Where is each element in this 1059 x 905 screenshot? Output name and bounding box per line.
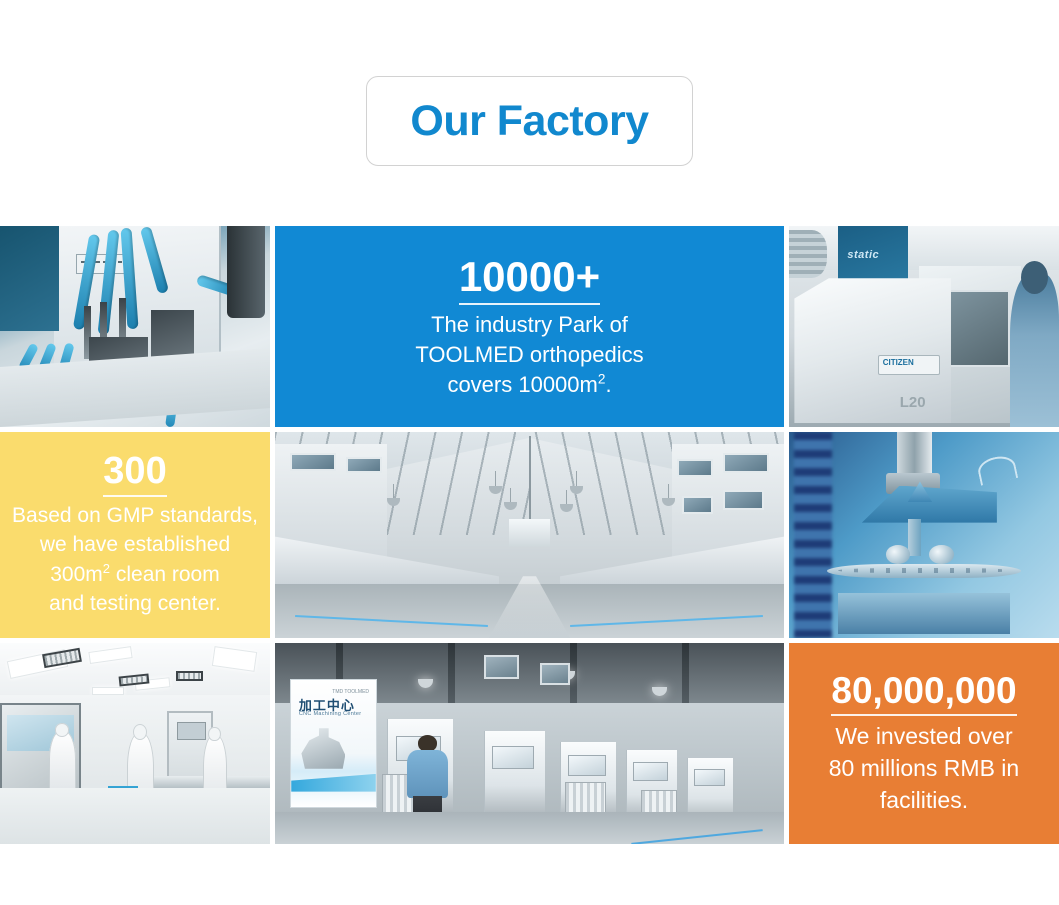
page-title: Our Factory <box>410 100 648 143</box>
lathe-body <box>794 278 951 423</box>
roof-beam <box>448 643 455 703</box>
investment-stat-line-1: We invested over <box>829 721 1019 753</box>
investment-stat-panel: 80,000,000 We invested over 80 millions … <box>789 643 1059 844</box>
page-title-container: Our Factory <box>0 76 1059 166</box>
extraction-duct <box>789 230 827 278</box>
hall-window <box>682 496 713 515</box>
factory-showcase-page: Our Factory <box>0 0 1059 905</box>
load-fixture <box>862 486 997 523</box>
hall-window <box>540 663 571 685</box>
lathe-image: static CITIZEN L20 <box>789 226 1059 427</box>
hall-window <box>290 453 336 472</box>
pendant-lamp-icon <box>489 486 502 494</box>
hall-window <box>346 457 382 473</box>
background-gear-rack <box>794 432 832 638</box>
brand-plate: CITIZEN <box>878 355 940 375</box>
hall-floor <box>275 812 784 844</box>
machining-center-sign: TMD TOOLMED 加工中心 CNC Machining Center <box>290 679 377 808</box>
sign-wave-graphic <box>291 774 376 792</box>
lathe-photo: static CITIZEN L20 <box>789 226 1059 427</box>
cleanroom-stat-panel: 300 Based on GMP standards, we have esta… <box>0 432 270 638</box>
cnc-control-screen <box>568 755 606 776</box>
operator-torso <box>407 750 448 798</box>
bend-test-photo <box>789 432 1059 638</box>
cleanroom-image <box>0 643 270 844</box>
machining-center-photo: TMD TOOLMED 加工中心 CNC Machining Center <box>275 643 784 844</box>
test-base <box>838 593 1011 634</box>
cleanroom-stat-body: Based on GMP standards, we have establis… <box>12 502 258 619</box>
investment-stat-line-2: 80 millions RMB in <box>829 753 1019 785</box>
ceiling-light-icon <box>92 687 124 695</box>
hall-window <box>484 655 520 679</box>
hall-ceiling <box>789 226 1059 270</box>
investment-stat-body: We invested over 80 millions RMB in faci… <box>829 721 1019 816</box>
model-label: L20 <box>900 394 926 411</box>
roof-beam <box>682 643 689 703</box>
wire-clip <box>976 453 1018 485</box>
lathe-viewing-window <box>946 290 1011 366</box>
cleanroom-floor <box>0 788 270 844</box>
support-roller <box>886 545 910 564</box>
ceiling-vent-icon <box>176 671 203 681</box>
bone-plate-specimen <box>827 564 1021 578</box>
cabinet-label: static <box>847 249 879 261</box>
bend-test-image <box>789 432 1059 638</box>
cleanroom-stat-number: 300 <box>103 451 166 498</box>
hall-window <box>677 459 713 478</box>
area-stat-line-3: covers 10000m2. <box>415 370 643 400</box>
cleanroom-stat-line-2: we have established <box>12 531 258 560</box>
cleanroom-stat-line-4: and testing center. <box>12 590 258 619</box>
cnc-control-screen <box>694 769 725 786</box>
hall-window <box>723 490 764 511</box>
area-stat-line-2: TOOLMED orthopedics <box>415 340 643 370</box>
test-ram <box>897 432 932 477</box>
hall-window <box>723 453 769 474</box>
roof-ridge <box>529 436 531 523</box>
investment-stat-line-3: facilities. <box>829 785 1019 817</box>
fixture-post <box>908 519 922 556</box>
cnc-control-screen <box>633 762 668 781</box>
cnc-closeup-photo <box>0 226 270 427</box>
machine-side-panel <box>0 226 59 331</box>
area-stat-body: The industry Park of TOOLMED orthopedics… <box>415 310 643 400</box>
page-title-box: Our Factory <box>366 76 693 166</box>
cnc-closeup-image <box>0 226 270 427</box>
sign-machine-illustration <box>301 728 345 769</box>
machining-center-image: TMD TOOLMED 加工中心 CNC Machining Center <box>275 643 784 844</box>
cleanroom-stat-line-3: 300m2 clean room <box>12 560 258 590</box>
cnc-control-screen <box>492 746 534 769</box>
cleanroom-stat-line-1: Based on GMP standards, <box>12 502 258 531</box>
support-roller <box>929 545 953 564</box>
far-doorway <box>509 519 550 548</box>
area-stat-number: 10000+ <box>459 254 600 305</box>
brand-plate-label: CITIZEN <box>883 358 914 367</box>
operator-figure <box>1010 274 1059 427</box>
factory-hall-photo <box>275 432 784 638</box>
cleanroom-photo <box>0 643 270 844</box>
investment-stat-number: 80,000,000 <box>831 671 1016 717</box>
area-stat-panel: 10000+ The industry Park of TOOLMED orth… <box>275 226 784 427</box>
factory-grid: 10000+ The industry Park of TOOLMED orth… <box>0 226 1059 844</box>
hose <box>227 226 265 318</box>
sign-title-en: CNC Machining Center <box>299 711 362 717</box>
factory-hall-image <box>275 432 784 638</box>
area-stat-line-1: The industry Park of <box>415 310 643 340</box>
